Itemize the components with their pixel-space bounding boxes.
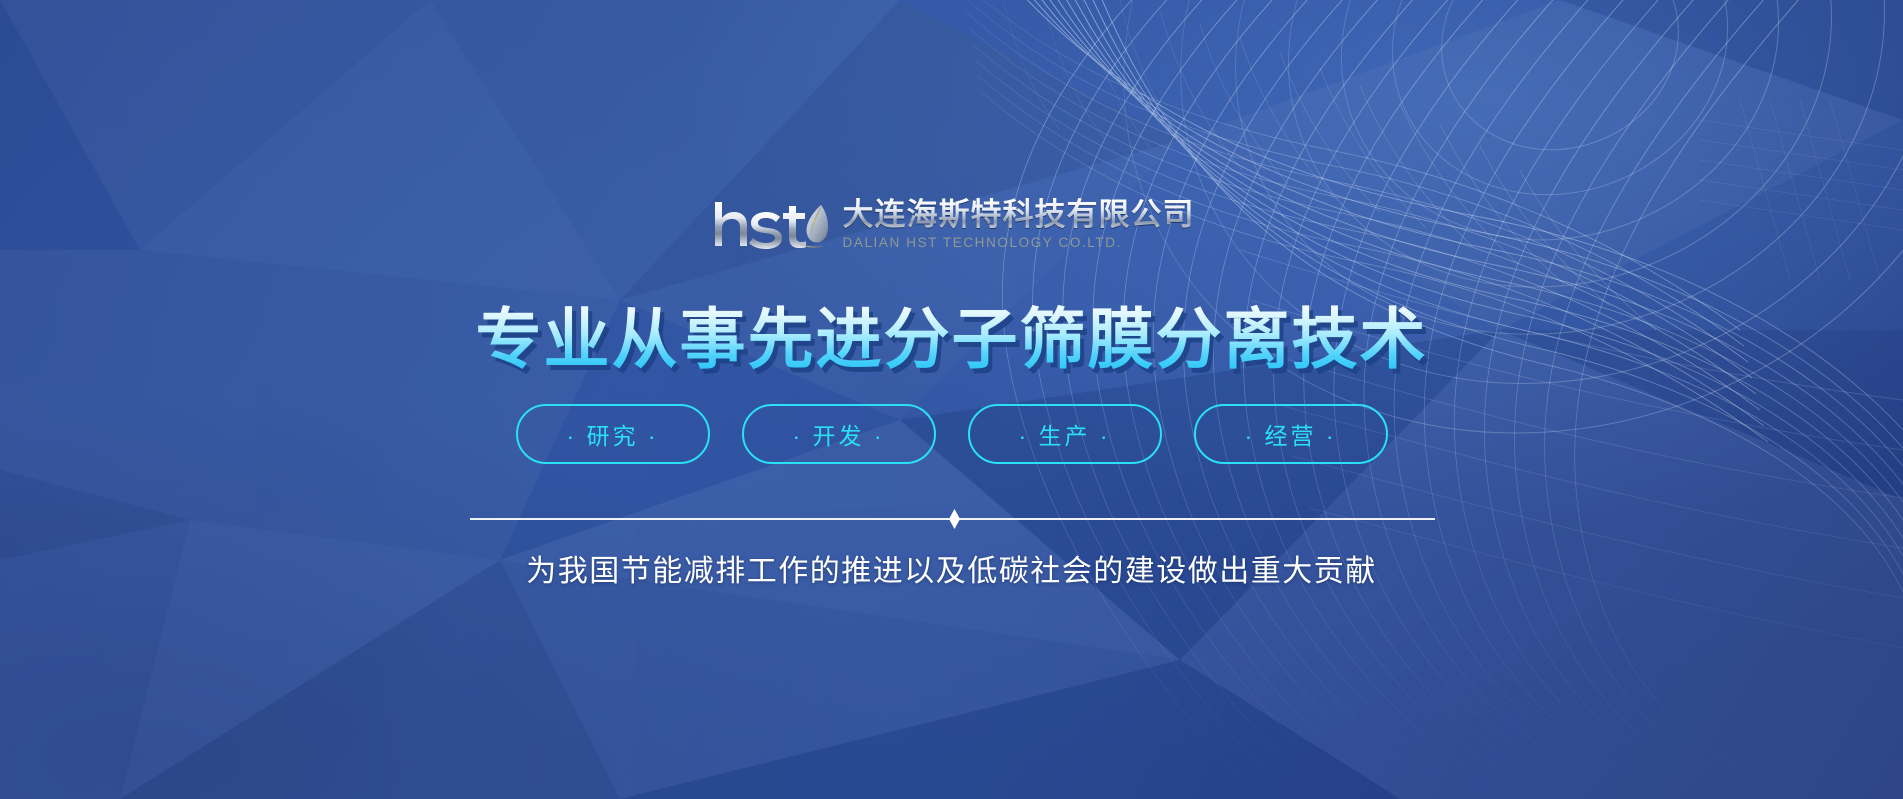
pill-development[interactable]: · 开发 · [742, 404, 936, 464]
logo-text-block: 大连海斯特科技有限公司 DALIAN HST TECHNOLOGY CO.LTD… [843, 196, 1195, 251]
company-logo: 大连海斯特科技有限公司 DALIAN HST TECHNOLOGY CO.LTD… [0, 196, 1903, 251]
pill-operation[interactable]: · 经营 · [1194, 404, 1388, 464]
headline: 专业从事先进分子筛膜分离技术 专业从事先进分子筛膜分离技术 [0, 302, 1903, 376]
company-name-en: DALIAN HST TECHNOLOGY CO.LTD. [843, 235, 1195, 251]
headline-text: 专业从事先进分子筛膜分离技术 [476, 302, 1428, 376]
banner-content: 大连海斯特科技有限公司 DALIAN HST TECHNOLOGY CO.LTD… [0, 0, 1903, 799]
diamond-ornament-icon [949, 509, 960, 529]
pill-production[interactable]: · 生产 · [968, 404, 1162, 464]
company-name-cn: 大连海斯特科技有限公司 [843, 198, 1195, 232]
tagline: 为我国节能减排工作的推进以及低碳社会的建设做出重大贡献 [0, 552, 1903, 592]
keyword-pill-group: · 研究 · · 开发 · · 生产 · · 经营 · [0, 404, 1903, 464]
hero-banner: 大连海斯特科技有限公司 DALIAN HST TECHNOLOGY CO.LTD… [0, 0, 1903, 799]
hst-leaf-logo-icon [709, 198, 833, 250]
pill-research[interactable]: · 研究 · [516, 404, 710, 464]
